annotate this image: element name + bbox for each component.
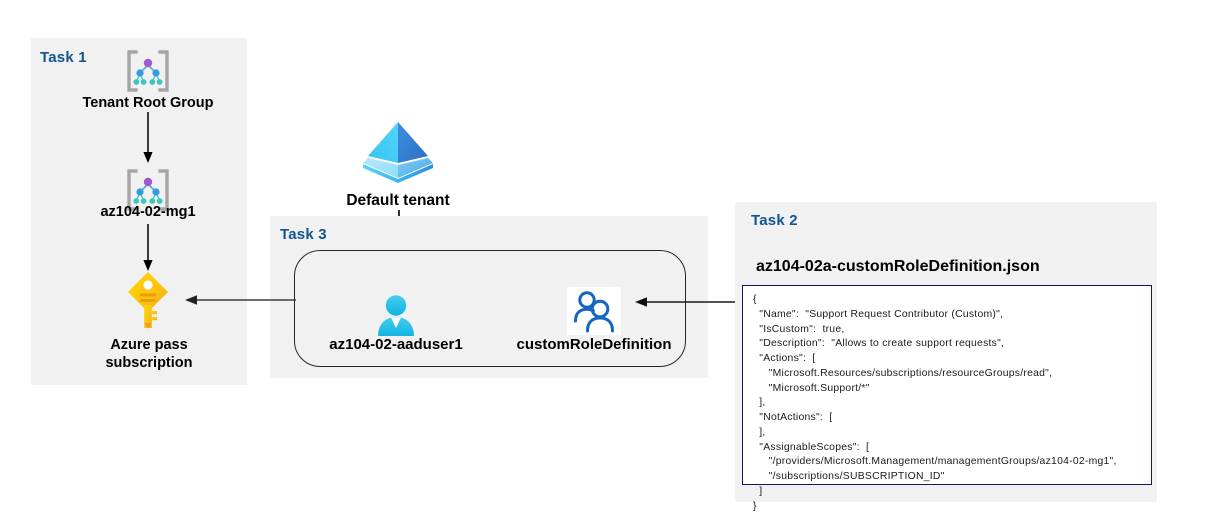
azure-ad-tenant-icon: [358, 116, 438, 188]
arrow-task2-to-role-definition: [633, 294, 743, 310]
task2-label: Task 2: [751, 212, 798, 229]
json-content-box: { "Name": "Support Request Contributor (…: [742, 285, 1152, 485]
arrow-tenant-to-mg: [140, 112, 158, 166]
key-icon: [126, 271, 170, 329]
aad-user-label: az104-02-aaduser1: [296, 336, 496, 355]
user-icon: [373, 294, 419, 338]
json-content-text: { "Name": "Support Request Contributor (…: [753, 293, 1141, 514]
role-definition-icon: [567, 287, 621, 335]
json-file-title: az104-02a-customRoleDefinition.json: [756, 258, 1040, 276]
custom-role-definition-label: customRoleDefinition: [494, 336, 694, 355]
arrow-mg-to-subscription: [140, 224, 158, 274]
diagram-canvas: Task 1 Tenant Root Group: [0, 0, 1212, 522]
tenant-root-group-label: Tenant Root Group: [43, 94, 253, 112]
task1-label: Task 1: [40, 49, 87, 66]
azure-pass-subscription-label: Azure pass subscription: [44, 336, 254, 372]
arrow-task3-to-subscription: [183, 292, 299, 308]
management-group-label: az104-02-mg1: [43, 203, 253, 221]
default-tenant-label: Default tenant: [298, 191, 498, 210]
task3-label: Task 3: [280, 226, 327, 243]
management-group-icon: [124, 49, 172, 93]
